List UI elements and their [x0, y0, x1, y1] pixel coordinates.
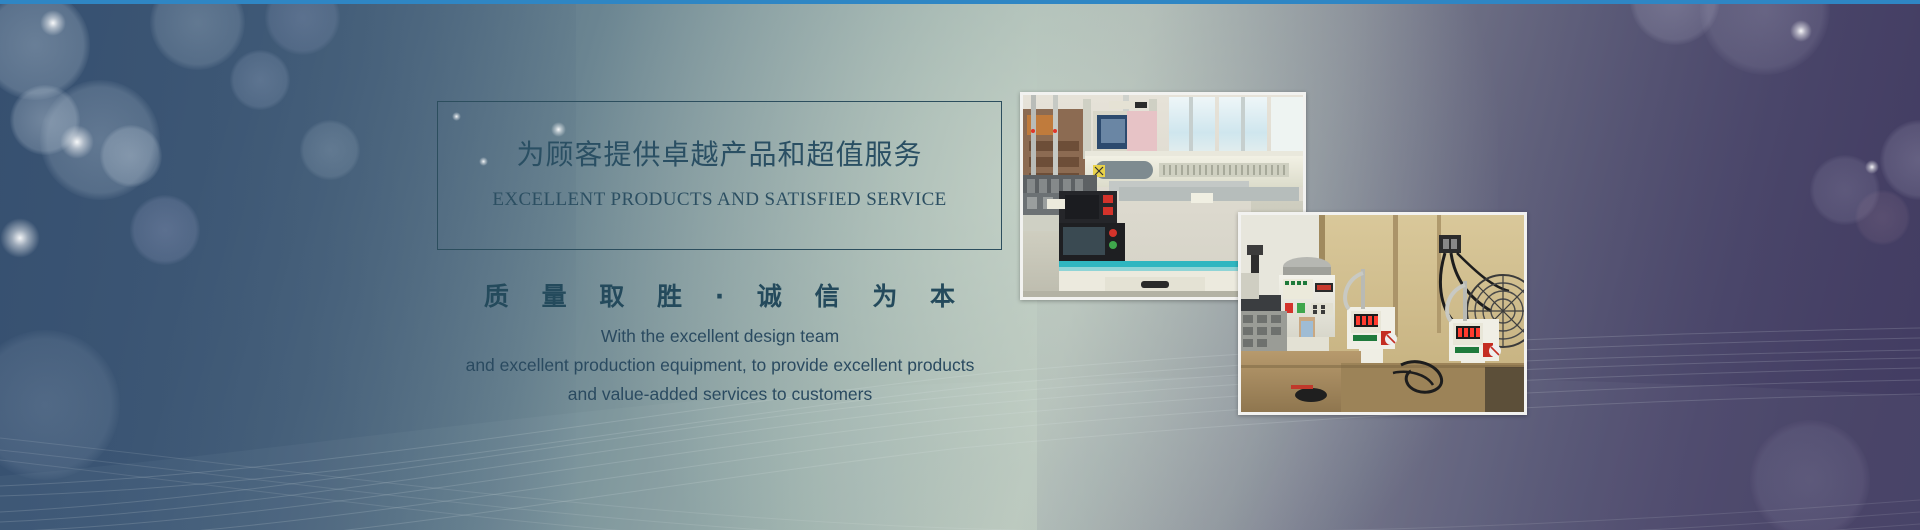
photo-welding-machines[interactable] — [1238, 212, 1527, 415]
headline-chinese: 为顾客提供卓越产品和超值服务 — [437, 133, 1002, 173]
company-culture-banner: 为顾客提供卓越产品和超值服务 EXCELLENT PRODUCTS AND SA… — [0, 0, 1920, 530]
description-paragraph: With the excellent design team and excel… — [300, 322, 1140, 409]
text-column: 为顾客提供卓越产品和超值服务 EXCELLENT PRODUCTS AND SA… — [0, 0, 1100, 530]
headline-english: EXCELLENT PRODUCTS AND SATISFIED SERVICE — [437, 189, 1002, 211]
paragraph-line-1: With the excellent design team — [300, 322, 1140, 351]
slogan-chinese: 质 量 取 胜 · 诚 信 为 本 — [437, 277, 1002, 313]
photo-welding-machines-image — [1241, 215, 1524, 412]
paragraph-line-3: and value-added services to customers — [300, 380, 1140, 409]
headline-frame — [437, 101, 1002, 250]
paragraph-line-2: and excellent production equipment, to p… — [300, 351, 1140, 380]
